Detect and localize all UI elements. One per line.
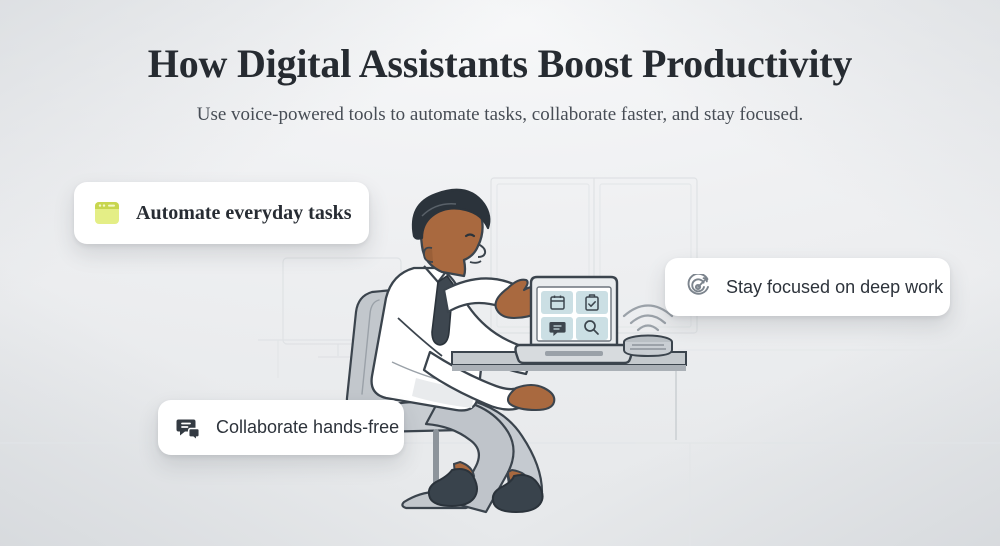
illustration-hero-canvas: How Digital Assistants Boost Productivit… [0, 0, 1000, 546]
chat-bubbles-icon [176, 415, 202, 441]
badge-stay-focused-on-deep-work[interactable]: Stay focused on deep work [665, 258, 950, 316]
target-dart-icon [685, 274, 711, 300]
page-subtitle: Use voice-powered tools to automate task… [0, 102, 1000, 128]
smart-speaker [624, 336, 672, 357]
badge-label: Automate everyday tasks [136, 202, 352, 225]
badge-label: Stay focused on deep work [726, 277, 943, 298]
window-icon [94, 200, 120, 226]
badge-label: Collaborate hands-free [216, 417, 399, 438]
person-legs [426, 396, 543, 512]
badge-collaborate-hands-free[interactable]: Collaborate hands-free [158, 400, 404, 455]
voice-wave-arcs [624, 306, 672, 331]
badge-automate-everyday-tasks[interactable]: Automate everyday tasks [74, 182, 369, 244]
person-head [413, 190, 489, 276]
page-title: How Digital Assistants Boost Productivit… [0, 40, 1000, 88]
header-block: How Digital Assistants Boost Productivit… [0, 40, 1000, 128]
laptop [516, 277, 633, 363]
